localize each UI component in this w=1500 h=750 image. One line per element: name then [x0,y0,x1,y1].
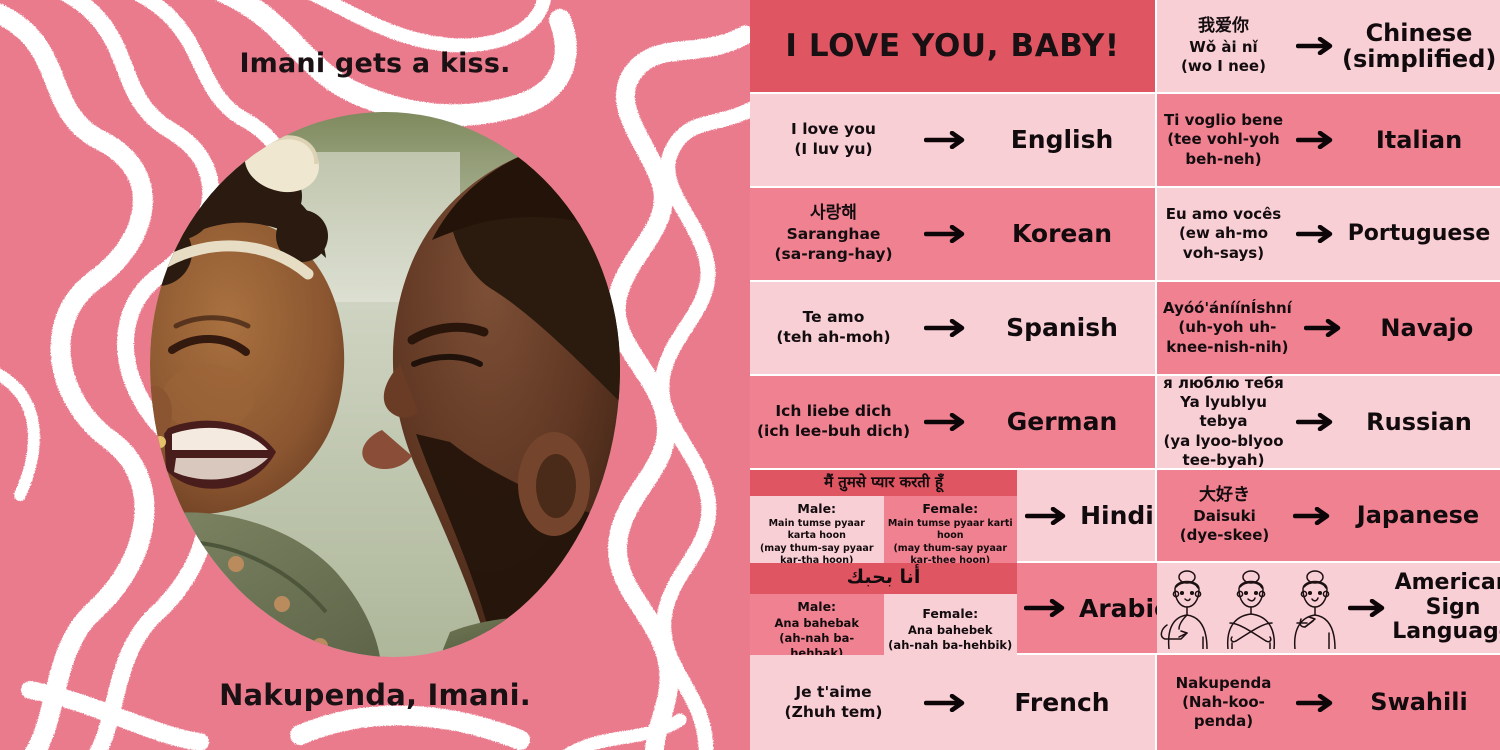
left-photo-panel: Imani gets a kiss. [0,0,750,750]
point-forward-sign-icon [1285,567,1345,649]
language-chart: I LOVE YOU, BABY! I love you (I luv yu) … [750,0,1500,750]
phrase-japanese: 大好き Daisuki (dye-skee) [1157,481,1292,549]
hindi-female-cell: Female: Main tumse pyaar karti hoon (may… [884,496,1018,573]
language-name-swahili: Swahili [1342,689,1500,715]
language-name-navajo: Navajo [1350,315,1500,341]
arrow-icon [917,694,975,712]
asl-sign-illustrations [1157,567,1345,649]
arrow-icon [1290,131,1342,149]
table-row-spanish: Te amo (teh ah-moh) Spanish [750,282,1155,376]
phrase-french: Je t'aime (Zhuh tem) [750,679,917,727]
language-name-hindi: Hindi [1080,501,1154,530]
arabic-native-script: أنا بحبك [750,563,1017,594]
table-row-swahili: Nakupenda (Nah-koo-penda) Swahili [1157,655,1500,750]
female-label: Female: [887,501,1015,517]
phrase-portuguese: Eu amo vocês (ew ah-mo voh-says) [1157,201,1290,267]
language-name-korean: Korean [975,220,1155,248]
table-row-french: Je t'aime (Zhuh tem) French [750,655,1155,750]
table-row-portuguese: Eu amo vocês (ew ah-mo voh-says) Portugu… [1157,188,1500,282]
arrow-icon [1018,507,1076,525]
phrase-korean: 사랑해 Saranghae (sa-rang-hay) [750,199,917,268]
arrow-icon [1017,599,1075,617]
language-name-english: English [975,126,1155,154]
page-caption-bottom: Nakupenda, Imani. [0,678,750,712]
photo-illustration [150,112,620,657]
table-row-chinese: 我爱你 Wǒ ài nǐ (wo I nee) Chinese (simplif… [1157,0,1500,94]
language-name-asl: American Sign Language [1391,571,1500,645]
book-spread: Imani gets a kiss. [0,0,1500,750]
hindi-language-block: Hindi [1017,470,1155,561]
table-row-asl: American Sign Language [1157,563,1500,655]
phrase-navajo: Ayóó'áníínÍshní (uh-yoh uh- knee-nish-ni… [1157,295,1298,361]
chart-column-left: I LOVE YOU, BABY! I love you (I luv yu) … [750,0,1157,750]
hindi-native-script: मैं तुमसे प्यार करती हूँ [750,470,1017,496]
arrow-icon [1298,319,1350,337]
chart-title-banner: I LOVE YOU, BABY! [750,0,1155,94]
page-title: I LOVE YOU, BABY! [785,28,1119,64]
arrow-icon [1292,507,1334,525]
phrase-english: I love you (I luv yu) [750,116,917,164]
arrow-icon [1290,225,1342,243]
phrase-russian: я люблю тебя Ya lyublyu tebya (ya lyoo-b… [1157,370,1290,474]
table-row-japanese: 大好き Daisuki (dye-skee) Japanese [1157,470,1500,563]
phrase-swahili: Nakupenda (Nah-koo-penda) [1157,670,1290,736]
table-row-korean: 사랑해 Saranghae (sa-rang-hay) Korean [750,188,1155,282]
crossed-arms-heart-sign-icon [1218,567,1284,649]
hindi-phrase-block: मैं तुमसे प्यार करती हूँ Male: Main tums… [750,470,1017,561]
phrase-italian: Ti voglio bene (tee vohl-yoh beh-neh) [1157,107,1290,173]
male-label: Male: [753,501,881,517]
family-photo [150,112,620,657]
page-caption-top: Imani gets a kiss. [0,48,750,79]
arabic-language-block: Arabic [1017,563,1169,653]
arrow-icon [917,131,975,149]
table-row-navajo: Ayóó'áníínÍshní (uh-yoh uh- knee-nish-ni… [1157,282,1500,376]
phrase-chinese: 我爱你 Wǒ ài nǐ (wo I nee) [1157,12,1290,80]
arrow-icon [917,319,975,337]
hindi-male-cell: Male: Main tumse pyaar karta hoon (may t… [750,496,884,573]
arrow-icon [1290,413,1342,431]
language-name-chinese: Chinese (simplified) [1342,20,1500,73]
arrow-icon [917,225,975,243]
language-name-russian: Russian [1342,409,1500,435]
arrow-icon [917,413,975,431]
language-name-italian: Italian [1342,127,1500,153]
table-row-arabic: أنا بحبك Male: Ana bahebak (ah-nah ba-he… [750,563,1155,655]
point-to-self-sign-icon [1157,567,1217,649]
table-row-english: I love you (I luv yu) English [750,94,1155,188]
table-row-hindi: मैं तुमसे प्यार करती हूँ Male: Main tums… [750,470,1155,563]
arrow-icon [1290,37,1342,55]
language-name-german: German [975,408,1155,436]
language-name-japanese: Japanese [1334,502,1500,528]
phrase-german: Ich liebe dich (ich lee-buh dich) [750,398,917,446]
phrase-spanish: Te amo (teh ah-moh) [750,304,917,352]
arrow-icon [1290,694,1342,712]
table-row-italian: Ti voglio bene (tee vohl-yoh beh-neh) It… [1157,94,1500,188]
language-name-arabic: Arabic [1079,594,1169,623]
female-label: Female: [887,606,1015,622]
table-row-russian: я люблю тебя Ya lyublyu tebya (ya lyoo-b… [1157,376,1500,470]
chart-column-right: 我爱你 Wǒ ài nǐ (wo I nee) Chinese (simplif… [1157,0,1500,750]
arabic-phrase-block: أنا بحبك Male: Ana bahebak (ah-nah ba-he… [750,563,1017,653]
male-label: Male: [753,599,881,615]
language-name-spanish: Spanish [975,314,1155,342]
language-name-french: French [975,689,1155,717]
arrow-icon [1345,599,1391,617]
table-row-german: Ich liebe dich (ich lee-buh dich) German [750,376,1155,470]
language-name-portuguese: Portuguese [1342,222,1500,246]
